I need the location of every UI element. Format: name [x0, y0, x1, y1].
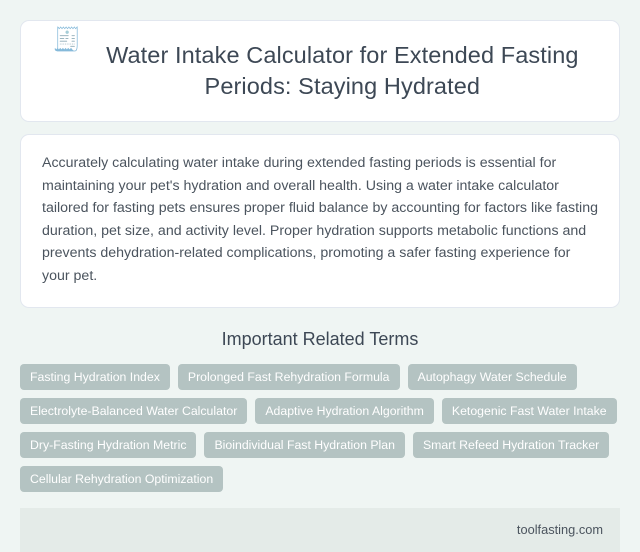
page-root: 🧾 Water Intake Calculator for Extended F… — [0, 0, 640, 543]
term-tag[interactable]: Prolonged Fast Rehydration Formula — [178, 364, 400, 390]
term-tag[interactable]: Bioindividual Fast Hydration Plan — [204, 432, 404, 458]
article-card: Accurately calculating water intake duri… — [20, 134, 620, 308]
term-tag[interactable]: Smart Refeed Hydration Tracker — [413, 432, 609, 458]
footer-site-name: toolfasting.com — [517, 522, 603, 538]
page-title: Water Intake Calculator for Extended Fas… — [97, 40, 587, 102]
receipt-icon: 🧾 — [53, 24, 82, 55]
term-tag[interactable]: Ketogenic Fast Water Intake — [442, 398, 617, 424]
title-row: 🧾 Water Intake Calculator for Extended F… — [47, 24, 593, 117]
footer-bar: toolfasting.com — [20, 508, 620, 552]
term-tag[interactable]: Cellular Rehydration Optimization — [20, 466, 223, 492]
term-tag[interactable]: Dry-Fasting Hydration Metric — [20, 432, 196, 458]
related-terms-section: Important Related Terms Fasting Hydratio… — [20, 327, 620, 492]
term-tag[interactable]: Fasting Hydration Index — [20, 364, 170, 390]
term-tag[interactable]: Adaptive Hydration Algorithm — [255, 398, 434, 424]
title-card: 🧾 Water Intake Calculator for Extended F… — [20, 20, 620, 122]
article-body: Accurately calculating water intake duri… — [42, 152, 598, 288]
term-tag[interactable]: Autophagy Water Schedule — [408, 364, 577, 390]
term-tag[interactable]: Electrolyte-Balanced Water Calculator — [20, 398, 247, 424]
related-terms-list: Fasting Hydration Index Prolonged Fast R… — [20, 364, 620, 492]
related-terms-heading: Important Related Terms — [20, 327, 620, 351]
